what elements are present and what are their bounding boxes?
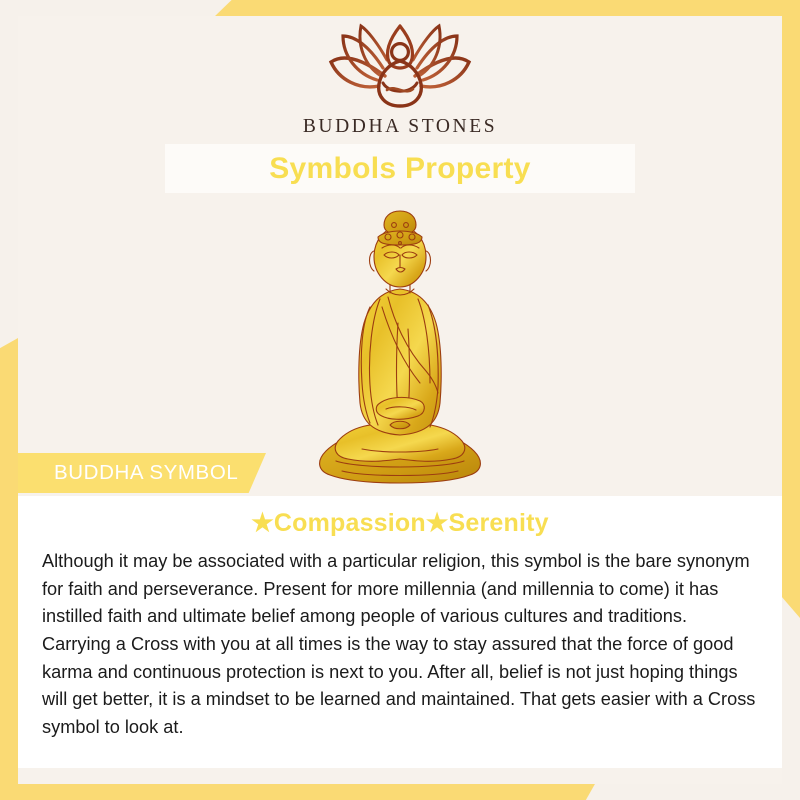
subtitle-word-serenity: Serenity <box>449 509 549 537</box>
title-banner: Symbols Property <box>165 144 635 193</box>
subtitle-word-compassion: Compassion <box>274 509 426 537</box>
content-subtitle: ★Compassion★Serenity <box>30 508 770 538</box>
page-title: Symbols Property <box>269 152 531 186</box>
star-icon-left: ★ <box>251 509 274 537</box>
frame-left-accent <box>0 338 18 800</box>
brand-name: BUDDHA STONES <box>303 116 497 138</box>
poster-page: BUDDHA STONES Symbols Property <box>0 0 800 800</box>
body-paragraph: Although it may be associated with a par… <box>30 548 770 742</box>
star-icon-right: ★ <box>426 509 449 537</box>
content-panel: ★Compassion★Serenity Although it may be … <box>18 496 782 768</box>
frame-top-accent <box>214 0 800 17</box>
lotus-meditation-figure-icon <box>325 20 475 112</box>
symbol-ribbon-label: BUDDHA SYMBOL <box>54 461 238 485</box>
symbol-ribbon: BUDDHA SYMBOL <box>18 453 266 493</box>
brand-header: BUDDHA STONES <box>18 20 782 138</box>
golden-seated-buddha-illustration <box>302 203 498 493</box>
